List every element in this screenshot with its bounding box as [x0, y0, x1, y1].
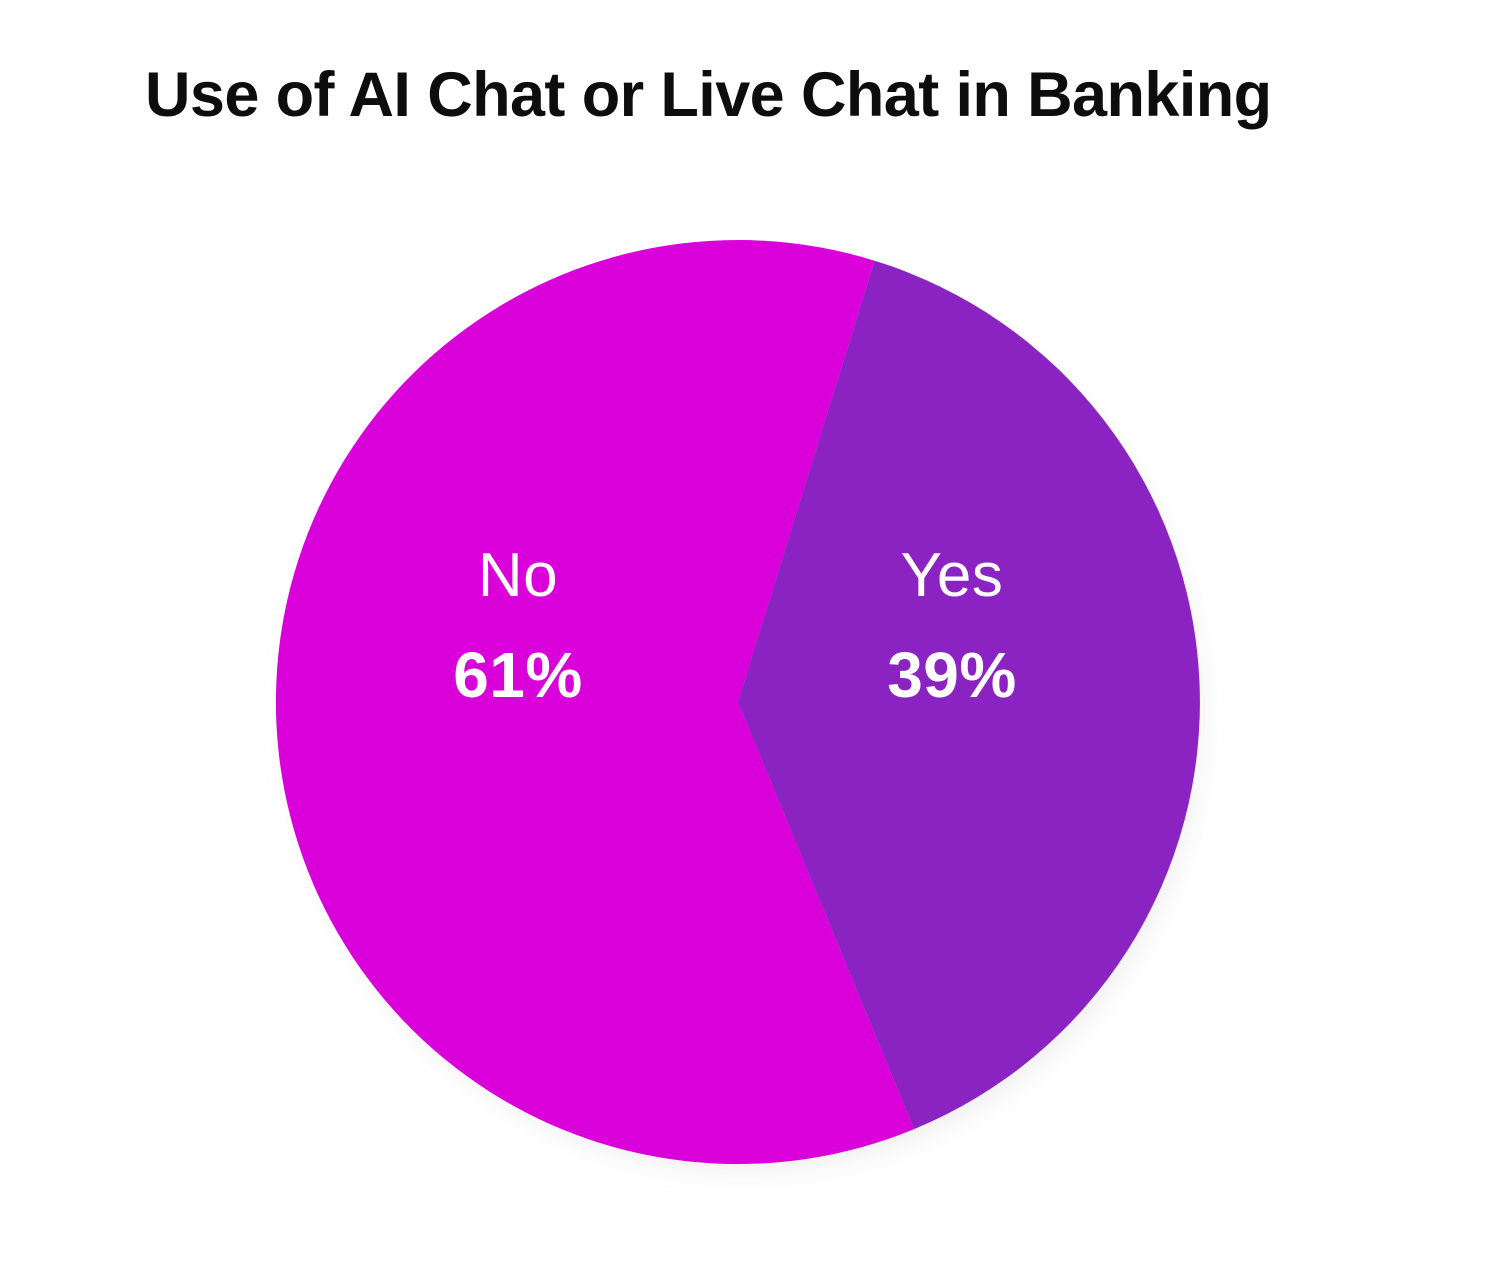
pie-label-yes-name: Yes — [822, 545, 1082, 607]
pie-label-yes-value: 39% — [822, 643, 1082, 707]
pie-label-no-name: No — [388, 545, 648, 607]
chart-canvas: Use of AI Chat or Live Chat in Banking — [0, 0, 1500, 1262]
pie-chart: No 61% Yes 39% — [0, 0, 1500, 1262]
pie-label-yes: Yes 39% — [822, 545, 1082, 707]
pie-chart-svg — [0, 0, 1500, 1262]
pie-label-no-value: 61% — [388, 643, 648, 707]
pie-label-no: No 61% — [388, 545, 648, 707]
